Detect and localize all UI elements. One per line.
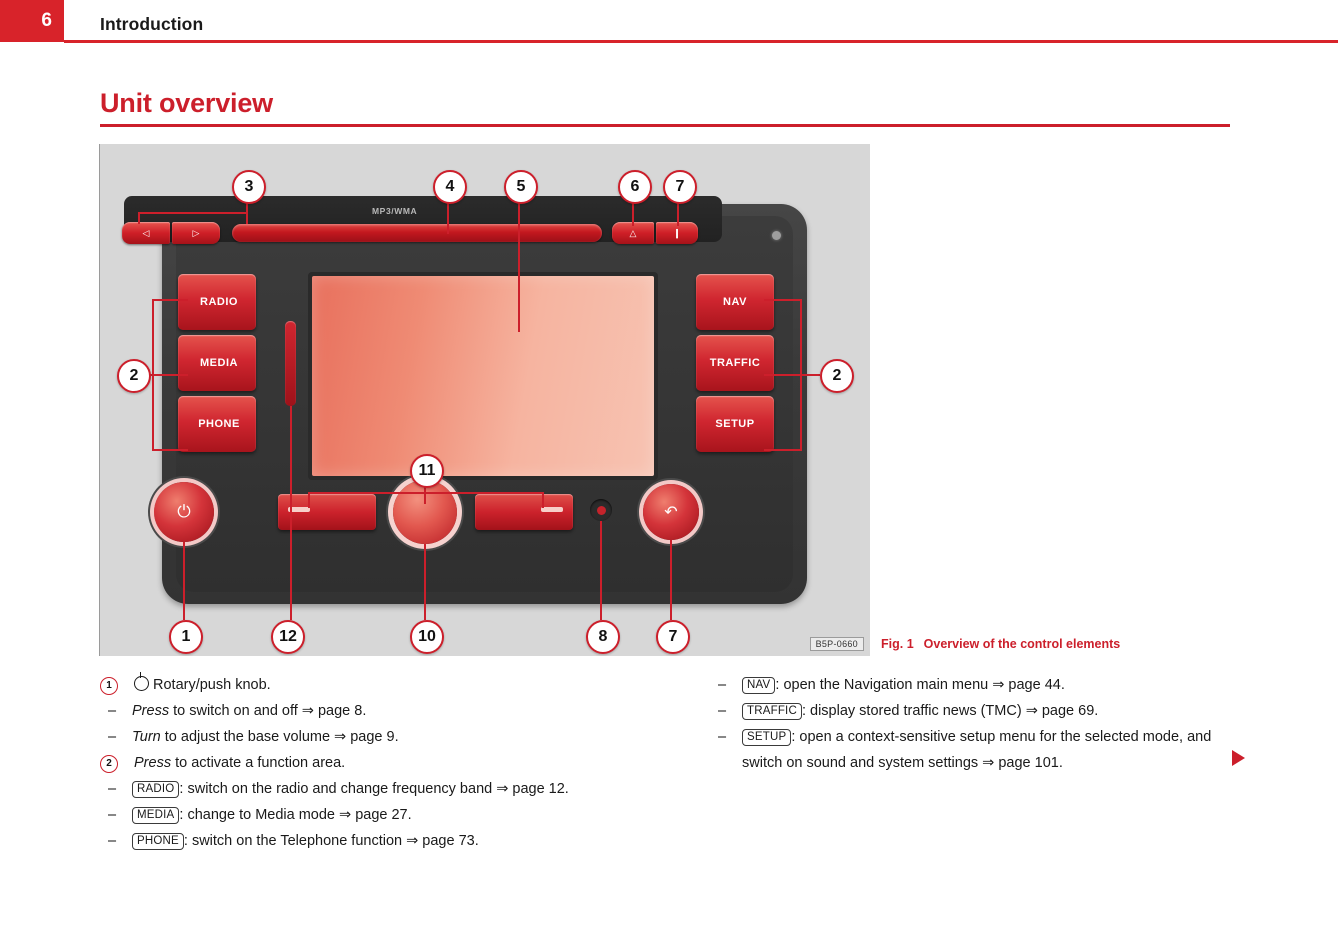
leader-line-10 (424, 544, 426, 620)
sub-item-2-2: –MEDIA: change to Media mode ⇒ page 27. (100, 802, 680, 828)
dash-bullet: – (108, 828, 116, 854)
skip-next-button[interactable]: ▷ (172, 222, 220, 244)
display-screen[interactable] (312, 276, 654, 476)
dash-bullet: – (718, 724, 726, 750)
eject-icon: △ (630, 228, 637, 239)
list-item-2: 2 Press to activate a function area. (100, 750, 680, 776)
item-1-text: Rotary/push knob. (153, 677, 271, 693)
power-volume-knob[interactable]: ⏻ (154, 482, 214, 542)
sub-item-2-3: –PHONE: switch on the Telephone function… (100, 828, 680, 854)
figure-caption-number: Fig. 1 (881, 637, 914, 651)
keycap-traffic: TRAFFIC (742, 703, 802, 720)
callout-7: 7 (663, 170, 697, 204)
callout-5: 5 (504, 170, 538, 204)
item-number-1: 1 (100, 677, 118, 695)
sub-item-2-1: –RADIO: switch on the radio and change f… (100, 776, 680, 802)
dash-bullet: – (108, 698, 116, 724)
sub-item-traffic: –TRAFFIC: display stored traffic news (T… (718, 698, 1238, 724)
continuation-arrow-icon (1232, 750, 1245, 766)
radio-button[interactable]: RADIO (178, 274, 256, 330)
item-2-text: to activate a function area. (171, 755, 345, 771)
item-number-2: 2 (100, 755, 118, 773)
skip-button-pair: ◁ ▷ (122, 222, 222, 244)
sub-item-1-1: –Press to switch on and off ⇒ page 8. (100, 698, 680, 724)
callout-8: 7 (656, 620, 690, 654)
display-bezel (308, 272, 658, 480)
list-item-1: 1 Rotary/push knob. (100, 672, 680, 698)
keycap-nav: NAV (742, 677, 775, 694)
sub-item-1-2: –Turn to adjust the base volume ⇒ page 9… (100, 724, 680, 750)
back-arrow-icon: ↶ (664, 502, 677, 522)
dash-bullet: – (108, 724, 116, 750)
back-button[interactable]: ↶ (643, 484, 699, 540)
power-icon: ⏻ (177, 502, 190, 522)
leader-line-4 (447, 200, 449, 234)
leader-line-2-left-bot (152, 449, 188, 451)
phone-button[interactable]: PHONE (178, 396, 256, 452)
sub-item-2-3-text: : switch on the Telephone function ⇒ pag… (184, 833, 479, 849)
sub-item-2-1-text: : switch on the radio and change frequen… (179, 781, 568, 797)
right-function-button-column: NAV TRAFFIC SETUP (696, 274, 774, 452)
section-divider (100, 124, 1230, 127)
keycap-setup: SETUP (742, 729, 791, 746)
leader-line-2-right-top (764, 299, 802, 301)
left-function-button-column: RADIO MEDIA PHONE (178, 274, 256, 452)
callout-2-right: 2 (820, 359, 854, 393)
reset-dot-icon (597, 506, 606, 515)
mp3-wma-label: MP3/WMA (372, 206, 417, 216)
page-number: 6 (41, 11, 52, 31)
leader-bracket-11-top (308, 492, 542, 494)
keycap-media: MEDIA (132, 807, 179, 824)
page-number-block: 6 (0, 0, 64, 42)
sub-item-setup-text: : open a context-sensitive setup menu fo… (742, 729, 1211, 771)
callout-10: 10 (410, 620, 444, 654)
callout-3: 3 (232, 170, 266, 204)
skip-next-icon: ▷ (193, 228, 200, 239)
sub-item-1-2-text: to adjust the base volume ⇒ page 9. (161, 729, 399, 745)
sub-item-1-1-emph: Press (132, 703, 169, 719)
callout-4: 4 (433, 170, 467, 204)
rotary-knob-icon (134, 676, 149, 691)
reset-pinhole[interactable] (590, 499, 612, 521)
sub-item-nav-text: : open the Navigation main menu ⇒ page 4… (775, 677, 1064, 693)
leader-bracket-3-left (138, 212, 140, 224)
sub-item-nav: –NAV: open the Navigation main menu ⇒ pa… (718, 672, 1238, 698)
right-text-column: –NAV: open the Navigation main menu ⇒ pa… (718, 672, 1238, 776)
dash-bullet: – (108, 802, 116, 828)
left-text-column: 1 Rotary/push knob. –Press to switch on … (100, 672, 680, 854)
chapter-title: Introduction (100, 14, 203, 35)
leader-bracket-3-right (246, 212, 248, 224)
sub-item-traffic-text: : display stored traffic news (TMC) ⇒ pa… (802, 703, 1098, 719)
skip-previous-icon: ◁ (143, 228, 150, 239)
sub-item-1-2-emph: Turn (132, 729, 161, 745)
leader-line-2-right-bot (764, 449, 802, 451)
sub-item-setup: –SETUP: open a context-sensitive setup m… (718, 724, 1238, 776)
sub-item-2-2-text: : change to Media mode ⇒ page 27. (179, 807, 411, 823)
nav-button[interactable]: NAV (696, 274, 774, 330)
callout-2-left: 2 (117, 359, 151, 393)
leader-line-9 (600, 521, 602, 620)
leader-line-2-left-top (152, 299, 188, 301)
leader-line-12 (290, 406, 292, 620)
figure-caption: Fig. 1Overview of the control elements (881, 637, 1120, 651)
leader-line-2-right-mid (764, 374, 820, 376)
dash-bullet: – (718, 698, 726, 724)
right-softkey-button[interactable] (475, 494, 573, 530)
right-softkey-dash-icon (541, 507, 563, 512)
figure-caption-text: Overview of the control elements (924, 637, 1121, 651)
callout-9: 8 (586, 620, 620, 654)
callout-11: 11 (410, 454, 444, 488)
leader-line-8 (670, 540, 672, 620)
leader-bracket-11-left (308, 492, 310, 508)
keycap-phone: PHONE (132, 833, 184, 850)
leader-line-1 (183, 542, 185, 620)
leader-line-5 (518, 200, 520, 332)
dash-bullet: – (718, 672, 726, 698)
sub-item-1-1-text: to switch on and off ⇒ page 8. (169, 703, 366, 719)
sensor-dot-icon (772, 231, 781, 240)
figure-panel: MP3/WMA ◁ ▷ △ ❙ RADIO MEDIA PHONE NAV TR… (99, 144, 870, 656)
media-button[interactable]: MEDIA (178, 335, 256, 391)
keycap-radio: RADIO (132, 781, 179, 798)
setup-button[interactable]: SETUP (696, 396, 774, 452)
callout-12: 12 (271, 620, 305, 654)
volume-indicator-strip[interactable] (285, 321, 296, 406)
skip-previous-button[interactable]: ◁ (122, 222, 170, 244)
traffic-button[interactable]: TRAFFIC (696, 335, 774, 391)
header-divider (64, 40, 1338, 43)
leader-bracket-3-top (138, 212, 248, 214)
cd-slot (232, 224, 602, 242)
callout-6: 6 (618, 170, 652, 204)
callout-1: 1 (169, 620, 203, 654)
section-title: Unit overview (100, 88, 273, 119)
left-softkey-button[interactable] (278, 494, 376, 530)
dash-bullet: – (108, 776, 116, 802)
info-icon: ❙ (673, 228, 681, 239)
item-2-emph: Press (134, 755, 171, 771)
figure-code-label: B5P-0660 (810, 637, 864, 651)
leader-bracket-11-right (542, 492, 544, 508)
page-header: 6 Introduction (0, 0, 1338, 44)
